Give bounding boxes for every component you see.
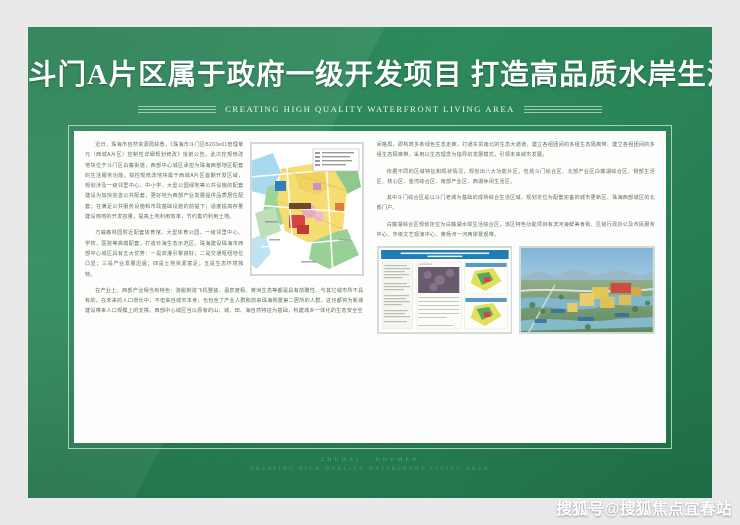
zoning-map-graphic (251, 143, 363, 275)
aerial-rendering-graphic (520, 247, 654, 333)
right-paragraph-1: 间格局，即构筑多条绿色生态走廊，打通东贯南北的生态大通道，建立各组团间的多组生态… (377, 140, 656, 161)
content-card-frame: 近日，珠海市自然资源局获悉，《珠海市斗门区B203e01管理单元（西城A片区）控… (68, 125, 672, 449)
watermark: 搜狐号@搜狐焦点宜春站 (556, 497, 732, 519)
left-column: 近日，珠海市自然资源局获悉，《珠海市斗门区B203e01管理单元（西城A片区）控… (85, 140, 364, 437)
right-paragraph-4: 白藤湖综合区规划定位为白藤湖水岸生活综合区，该区特色功能项目有滨河海鲜美食街、区… (377, 220, 656, 241)
right-column: 间格局，即构筑多条绿色生态走廊，打通东贯南北的生态大通道，建立各组团间的多组生态… (377, 140, 656, 437)
planning-document-panel (377, 246, 513, 334)
left-paragraph-3: 在产业上，西部产业相当有特色：游艇制造飞机整装、温泉度假、蔗洲生态等都是具有前瞻… (85, 286, 364, 317)
page-title: 斗门A片区属于政府一级开发项目 打造高品质水岸生活 (28, 27, 712, 93)
footer-tagline: CREATING HIGH QUALITY WATERFRONT LIVING … (28, 466, 712, 472)
promo-banner: 斗门A片区属于政府一级开发项目 打造高品质水岸生活 CREATING HIGH … (28, 27, 712, 498)
banner-header: 斗门A片区属于政府一级开发项目 打造高品质水岸生活 CREATING HIGH … (28, 27, 712, 114)
content-card: 近日，珠海市自然资源局获悉，《珠海市斗门区B203e01管理单元（西城A片区）控… (74, 131, 666, 443)
page-subtitle: CREATING HIGH QUALITY WATERFRONT LIVING … (225, 104, 515, 114)
rule-left-icon (138, 106, 216, 113)
banner-footer: ZHUHAI · DOUMEN CREATING HIGH QUALITY WA… (28, 457, 712, 472)
image-panel-row (377, 246, 656, 334)
aerial-rendering-panel (519, 246, 655, 334)
right-paragraph-3: 其中斗门综合区是以斗门老城为基础的成熟综合生活区域，规划定位为配套完备的城市更新… (377, 193, 656, 214)
zoning-map-image (250, 142, 364, 276)
planning-document-graphic (378, 247, 512, 333)
right-paragraph-2: 依据不同的区域特征和现状情况，规划出八大功能片区，包括斗门综合区、北部产业区白藤… (377, 167, 656, 188)
subtitle-row: CREATING HIGH QUALITY WATERFRONT LIVING … (28, 104, 712, 114)
footer-location-text: ZHUHAI · DOUMEN (28, 457, 712, 463)
rule-right-icon (524, 106, 602, 113)
